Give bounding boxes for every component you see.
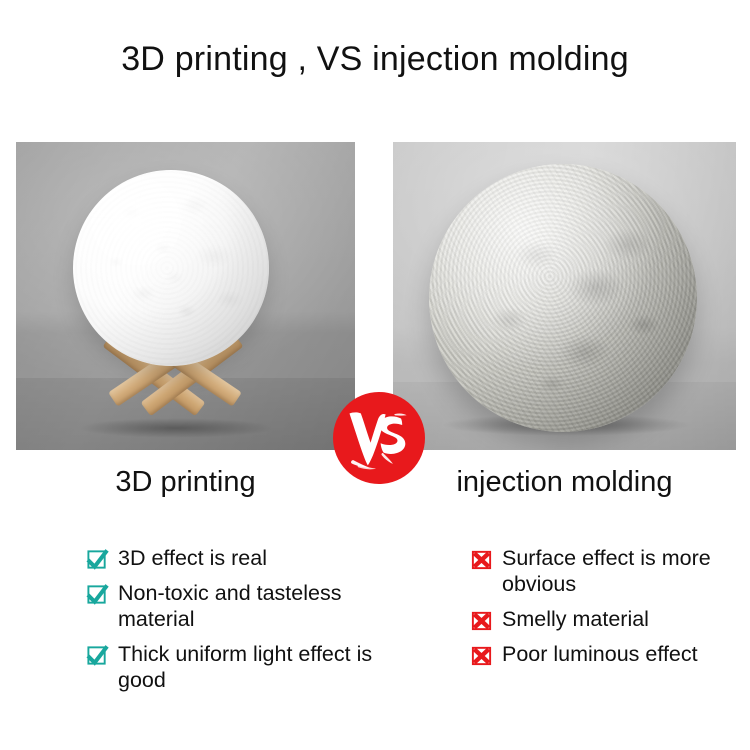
caption-3d-printing: 3D printing [16,466,355,499]
check-icon [86,583,109,606]
moon-shading [73,170,269,366]
feature-text: Thick uniform light effect is good [118,641,376,693]
list-item: Non-toxic and tasteless material [86,580,376,632]
feature-text: Smelly material [502,606,649,632]
feature-text: 3D effect is real [118,545,267,571]
photo-injection-molded-sphere [393,142,736,450]
grey-textured-sphere [429,164,697,432]
vs-badge-icon [333,392,425,484]
photo-panel-3d-printing [16,142,355,450]
page-title: 3D printing , VS injection molding [0,40,750,79]
feature-text: Surface effect is more obvious [502,545,750,597]
photo-panel-injection-molding [393,142,736,450]
feature-list-3d-printing: 3D effect is real Non-toxic and tasteles… [86,545,376,702]
list-item: Surface effect is more obvious [470,545,750,597]
feature-lists: 3D effect is real Non-toxic and tasteles… [0,545,750,745]
cross-icon [470,548,493,571]
caption-injection-molding: injection molding [393,466,736,499]
feature-text: Non-toxic and tasteless material [118,580,376,632]
list-item: Poor luminous effect [470,641,750,667]
check-icon [86,644,109,667]
cross-icon [470,644,493,667]
check-icon [86,548,109,571]
photo-3d-printed-moon-lamp [16,142,355,450]
comparison-panels [0,142,750,450]
cross-icon [470,609,493,632]
list-item: Thick uniform light effect is good [86,641,376,693]
white-moon-sphere [73,170,269,366]
feature-list-injection-molding: Surface effect is more obvious Smelly ma… [470,545,750,676]
list-item: Smelly material [470,606,750,632]
list-item: 3D effect is real [86,545,376,571]
sphere-shading [429,164,697,432]
feature-text: Poor luminous effect [502,641,698,667]
